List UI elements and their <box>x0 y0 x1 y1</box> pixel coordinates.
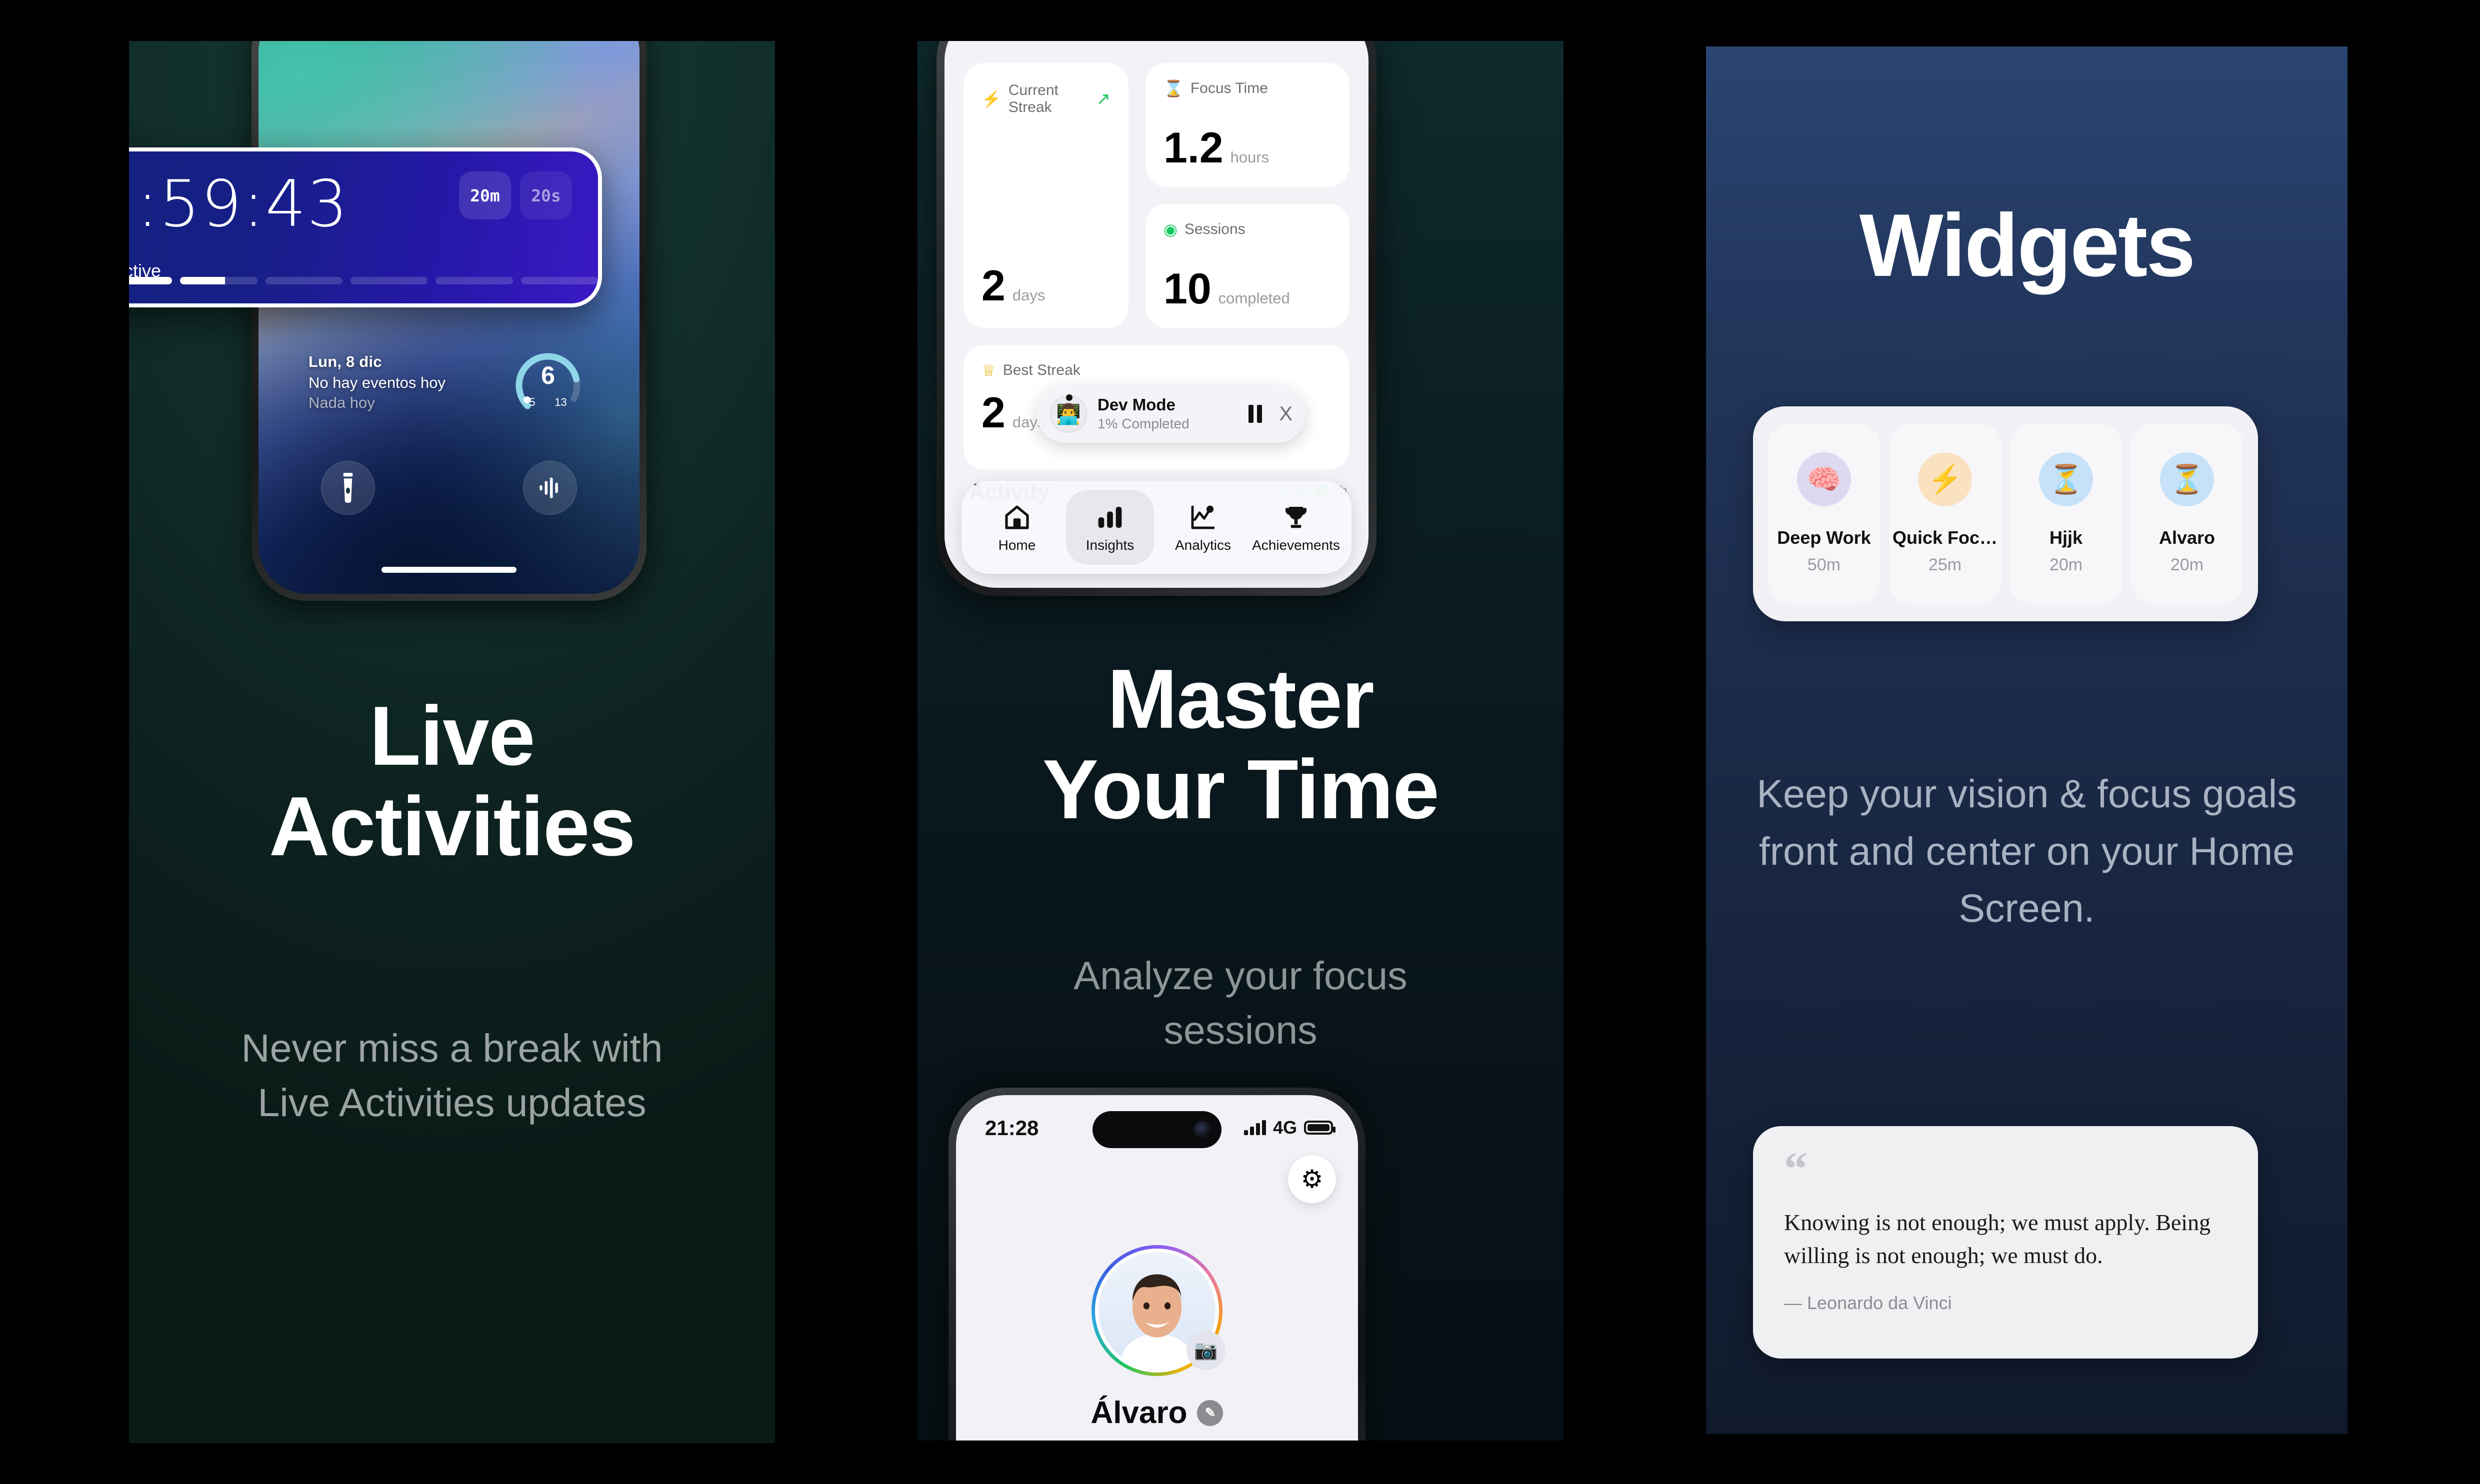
page-subtitle-master: Analyze your focus sessions <box>917 948 1563 1057</box>
bolt-icon: ⚡ <box>1918 452 1972 506</box>
page-subtitle-live: Never miss a break with Live Activities … <box>129 1021 775 1130</box>
gear-icon: ⚙ <box>1301 1165 1323 1194</box>
camera-icon: 📷 <box>1194 1340 1217 1362</box>
home-icon <box>1003 501 1031 531</box>
hourglass-icon: ⌛ <box>1163 80 1183 96</box>
card-current-streak[interactable]: ⚡ Current Streak ↗ 2 days <box>963 63 1128 328</box>
widget-item[interactable]: ⏳ Alvaro 20m <box>2131 423 2243 604</box>
flashlight-icon <box>336 473 359 503</box>
dev-mode-title: Dev Mode <box>1097 396 1189 414</box>
card-unit: days <box>1012 286 1045 304</box>
lock-event-line: No hay eventos hoy <box>308 374 445 392</box>
lock-date: Lun, 8 dic <box>308 353 445 371</box>
brain-icon: 🧠 <box>1797 452 1851 506</box>
card-label-row: ♕ Best Streak <box>981 362 1331 379</box>
widget-name: Alvaro <box>2159 527 2215 548</box>
page-title-master: MasterYour Time <box>917 654 1563 835</box>
live-activity-timer: 1:59:43 <box>129 172 348 236</box>
ring-value: 6 <box>510 361 585 390</box>
promo-screenshot: Lun, 8 dic No hay eventos hoy Nada hoy 6… <box>0 0 2480 1484</box>
dynamic-island <box>1092 1111 1221 1148</box>
trophy-icon <box>1282 501 1310 531</box>
tab-home[interactable]: Home <box>973 490 1061 565</box>
phone-mockup-profile: 21:28 4G ⚙ <box>948 1088 1365 1441</box>
ring-max-label: 13 <box>554 396 566 409</box>
close-icon[interactable]: X <box>1279 404 1292 424</box>
card-label: Sessions <box>1184 221 1245 238</box>
progress-segment <box>350 277 427 284</box>
panel-widgets: Widgets 🧠 Deep Work 50m ⚡ Quick Foc… 25m… <box>1706 46 2347 1434</box>
progress-segment <box>435 277 512 284</box>
widget-duration: 50m <box>1807 555 1840 575</box>
card-label-row: ⌛ Focus Time <box>1163 80 1331 97</box>
widget-duration: 25m <box>1928 555 1961 575</box>
card-value: 10 <box>1163 269 1211 310</box>
page-subtitle-widgets: Keep your vision & focus goals front and… <box>1706 765 2347 937</box>
status-bar-right: 4G <box>1244 1117 1333 1138</box>
audio-waveform-icon <box>537 476 563 499</box>
card-value: 2 <box>981 393 1005 434</box>
phone-mockup-lockscreen: Lun, 8 dic No hay eventos hoy Nada hoy 6… <box>251 41 646 601</box>
title-line: Activities <box>129 781 775 872</box>
target-icon: ◉ <box>1163 221 1177 237</box>
card-unit: completed <box>1218 289 1290 307</box>
title-line: Your Time <box>917 744 1563 835</box>
quote-widget-card[interactable]: “ Knowing is not enough; we must apply. … <box>1753 1126 2258 1359</box>
tab-label: Home <box>998 537 1036 553</box>
card-label-row: ⚡ Current Streak ↗ <box>981 82 1110 116</box>
trend-up-icon: ↗ <box>1096 89 1111 109</box>
lock-screen: Lun, 8 dic No hay eventos hoy Nada hoy 6… <box>258 41 639 594</box>
avatar: 👨‍💻 <box>1049 395 1087 433</box>
ring-min-label: 5 <box>529 396 535 409</box>
battery-icon <box>1304 1121 1333 1135</box>
tab-bar: Home Insights <box>961 481 1351 574</box>
lock-event-sub: Nada hoy <box>308 394 445 412</box>
widget-duration: 20m <box>2049 555 2082 575</box>
pencil-icon: ✎ <box>1205 1405 1216 1421</box>
card-sessions[interactable]: ◉ Sessions 10 completed <box>1145 204 1349 328</box>
tab-achievements[interactable]: Achievements <box>1252 490 1340 565</box>
quote-text: Knowing is not enough; we must apply. Be… <box>1784 1206 2227 1272</box>
page-title-widgets: Widgets <box>1706 197 2347 293</box>
page-title-live: LiveActivities <box>129 691 775 872</box>
panel-master-your-time: Overview ⚡ Current Streak ↗ 2 days <box>917 41 1563 1441</box>
progress-segment <box>129 277 172 284</box>
flashlight-button[interactable] <box>321 461 375 515</box>
insights-screen: Overview ⚡ Current Streak ↗ 2 days <box>944 41 1368 588</box>
tab-label: Analytics <box>1175 537 1231 553</box>
card-unit: hours <box>1230 148 1269 166</box>
avatar-ring[interactable]: 📷 <box>1091 1245 1222 1376</box>
hourglass-icon: ⏳ <box>2039 452 2093 506</box>
profile-name: Álvaro <box>1091 1395 1187 1431</box>
overview-cards: ⚡ Current Streak ↗ 2 days ⌛ <box>963 63 1349 328</box>
quote-author: — Leonardo da Vinci <box>1784 1293 2227 1314</box>
widget-item[interactable]: 🧠 Deep Work 50m <box>1768 423 1880 604</box>
profile-screen: 21:28 4G ⚙ <box>956 1095 1358 1441</box>
tab-label: Achievements <box>1252 537 1340 553</box>
title-line: Master <box>917 654 1563 744</box>
developer-icon: 👨‍💻 <box>1056 402 1081 426</box>
home-indicator <box>381 567 516 573</box>
progress-segment <box>180 277 257 284</box>
bolt-icon: ⚡ <box>981 91 1001 107</box>
live-activity-progress <box>129 277 598 284</box>
progress-segment <box>265 277 342 284</box>
tab-analytics[interactable]: Analytics <box>1159 490 1247 565</box>
tab-insights[interactable]: Insights <box>1066 490 1154 565</box>
audio-button[interactable] <box>523 461 577 515</box>
widget-name: Deep Work <box>1777 527 1870 548</box>
widget-preview-card[interactable]: 🧠 Deep Work 50m ⚡ Quick Foc… 25m ⏳ Hjjk … <box>1753 406 2258 621</box>
tab-label: Insights <box>1086 537 1134 553</box>
status-bar-time: 21:28 <box>985 1116 1038 1140</box>
bar-chart-icon <box>1096 501 1124 531</box>
crown-icon: ♕ <box>981 362 996 378</box>
pause-icon[interactable] <box>1248 405 1262 423</box>
phone-mockup-insights: Overview ⚡ Current Streak ↗ 2 days <box>936 41 1376 596</box>
profile-name-row: Álvaro ✎ <box>956 1395 1358 1431</box>
widget-item[interactable]: ⏳ Hjjk 20m <box>2010 423 2122 604</box>
lock-screen-calendar-widget: Lun, 8 dic No hay eventos hoy Nada hoy <box>308 353 445 412</box>
dev-mode-progress: 1% Completed <box>1097 416 1189 432</box>
change-photo-button[interactable]: 📷 <box>1186 1331 1225 1370</box>
quote-mark-icon: “ <box>1784 1155 2227 1183</box>
signal-icon <box>1244 1120 1266 1135</box>
widget-duration: 20m <box>2170 555 2203 575</box>
lock-ring-widget: 6 5 13 <box>510 348 585 423</box>
live-activity-chips: 20m 20s <box>459 171 572 219</box>
panel-live-activities: Lun, 8 dic No hay eventos hoy Nada hoy 6… <box>129 41 775 1443</box>
dev-mode-pill[interactable]: 👨‍💻 Dev Mode 1% Completed X <box>1036 385 1305 443</box>
card-label-row: ◉ Sessions <box>1163 221 1331 238</box>
card-label: Current Streak <box>1008 82 1083 116</box>
network-label: 4G <box>1273 1117 1297 1138</box>
title-line: Live <box>129 691 775 781</box>
widget-name: Hjjk <box>2049 527 2082 548</box>
hourglass-icon: ⏳ <box>2160 452 2214 506</box>
chip-primary[interactable]: 20m <box>459 171 511 219</box>
widget-item[interactable]: ⚡ Quick Foc… 25m <box>1889 423 2001 604</box>
insights-heading: Overview <box>968 41 1068 46</box>
card-value: 1.2 <box>1163 128 1223 169</box>
widget-name: Quick Foc… <box>1892 527 1997 548</box>
card-focus-time[interactable]: ⌛ Focus Time 1.2 hours <box>1145 63 1349 187</box>
card-value: 2 <box>981 266 1005 307</box>
edit-name-button[interactable]: ✎ <box>1197 1400 1223 1426</box>
progress-segment <box>521 277 598 284</box>
card-label: Focus Time <box>1190 80 1268 97</box>
card-label: Best Streak <box>1003 362 1080 379</box>
settings-button[interactable]: ⚙ <box>1288 1155 1336 1203</box>
line-chart-icon <box>1189 501 1217 531</box>
chip-secondary[interactable]: 20s <box>520 171 572 219</box>
live-activity-card[interactable]: 1:59:43 Active 20m 20s <box>129 147 602 307</box>
